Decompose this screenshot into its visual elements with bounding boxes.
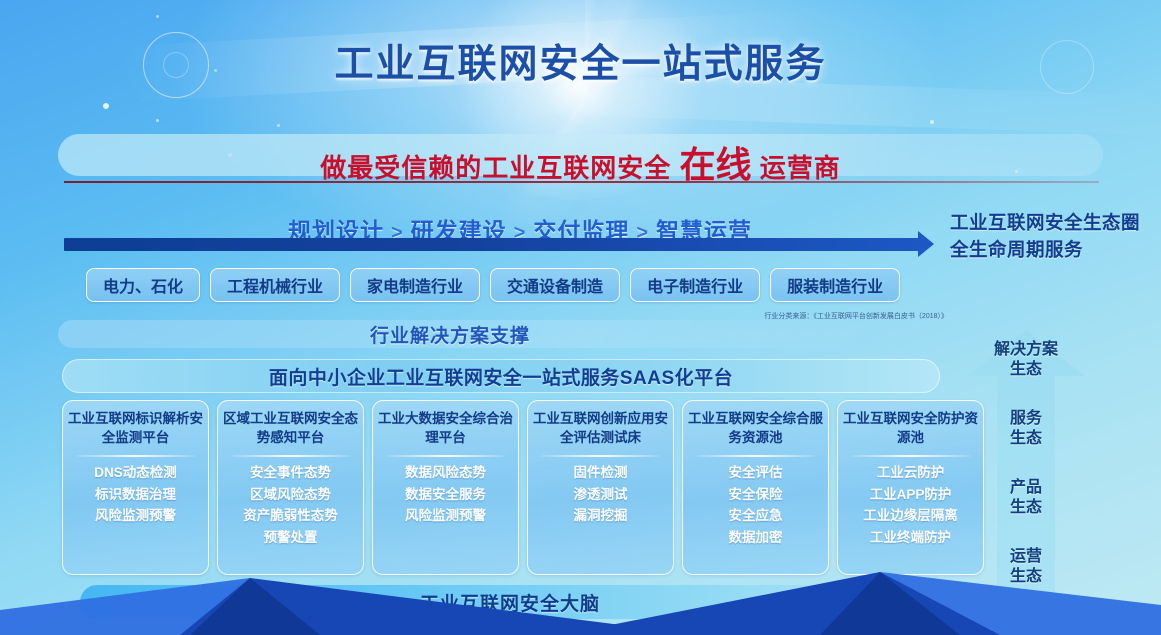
poster-canvas: 工业互联网安全一站式服务 做最受信赖的工业互联网安全 在线 运营商 规划设计>研… <box>0 0 1161 635</box>
capability-card-item[interactable]: 工业终端防护 <box>870 531 951 546</box>
capability-card-title: 工业互联网安全综合服务资源池 <box>688 410 824 447</box>
industry-tag-5[interactable]: 电子制造行业 <box>630 268 760 302</box>
industry-tag-6[interactable]: 服装制造行业 <box>770 268 900 302</box>
capability-card-divider <box>77 455 195 457</box>
capability-card-item[interactable]: 工业云防护 <box>877 466 945 481</box>
industry-tag-3[interactable]: 家电制造行业 <box>350 268 480 302</box>
capability-card-item[interactable]: 预警处置 <box>264 531 318 546</box>
capability-card-2[interactable]: 区域工业互联网安全态势感知平台安全事件态势区域风险态势资产脆弱性态势预警处置 <box>217 400 364 575</box>
capability-card-title: 工业互联网创新应用安全评估测试床 <box>533 410 669 447</box>
capability-card-divider <box>697 455 815 457</box>
page-title: 工业互联网安全一站式服务 <box>0 33 1161 89</box>
capability-card-item[interactable]: 风险监测预警 <box>95 509 176 524</box>
subtitle-underline <box>64 181 1099 183</box>
dot-decoration-6 <box>277 124 280 127</box>
capability-card-3[interactable]: 工业大数据安全综合治理平台数据风险态势数据安全服务风险监测预警 <box>372 400 519 575</box>
capability-card-1[interactable]: 工业互联网标识解析安全监测平台DNS动态检测标识数据治理风险监测预警 <box>62 400 209 575</box>
saas-platform-label: 面向中小企业工业互联网安全一站式服务SAAS化平台 <box>269 363 733 390</box>
capability-card-divider <box>232 455 350 457</box>
subtitle-suffix: 运营商 <box>752 153 841 183</box>
capability-card-item[interactable]: DNS动态检测 <box>94 466 177 481</box>
capability-card-item-list: 安全评估安全保险安全应急数据加密 <box>729 466 783 546</box>
dot-decoration-1 <box>103 103 109 109</box>
capability-card-4[interactable]: 工业互联网创新应用安全评估测试床固件检测渗透测试漏洞挖掘 <box>527 400 674 575</box>
capability-card-title: 工业互联网标识解析安全监测平台 <box>68 410 204 447</box>
capability-card-item[interactable]: 资产脆弱性态势 <box>243 509 338 524</box>
industry-tag-4[interactable]: 交通设备制造 <box>490 268 620 302</box>
industry-tag-1[interactable]: 电力、石化 <box>86 268 200 302</box>
industry-tag-list: 电力、石化工程机械行业家电制造行业交通设备制造电子制造行业服装制造行业 <box>86 268 900 302</box>
capability-card-item[interactable]: 漏洞挖掘 <box>574 509 628 524</box>
bottom-polygon-decoration <box>0 550 1161 635</box>
source-note: 行业分类来源：《工业互联网平台创新发展白皮书（2018）》 <box>700 311 948 321</box>
capability-card-item-list: 安全事件态势区域风险态势资产脆弱性态势预警处置 <box>243 466 338 546</box>
dot-decoration-7 <box>930 120 934 124</box>
capability-card-item[interactable]: 区域风险态势 <box>250 488 331 503</box>
capability-card-item[interactable]: 风险监测预警 <box>405 509 486 524</box>
capability-card-item-list: 数据风险态势数据安全服务风险监测预警 <box>405 466 486 525</box>
capability-card-title: 区域工业互联网安全态势感知平台 <box>223 410 359 447</box>
capability-card-item[interactable]: 固件检测 <box>574 466 628 481</box>
capability-card-item[interactable]: 安全保险 <box>729 488 783 503</box>
capability-card-list: 工业互联网标识解析安全监测平台DNS动态检测标识数据治理风险监测预警区域工业互联… <box>62 400 984 575</box>
capability-card-item[interactable]: 工业APP防护 <box>870 488 952 503</box>
ecosystem-item-1[interactable]: 解决方案生态 <box>960 340 1092 381</box>
saas-platform-bar: 面向中小企业工业互联网安全一站式服务SAAS化平台 <box>62 359 940 393</box>
capability-card-divider <box>387 455 505 457</box>
capability-card-item[interactable]: 安全应急 <box>729 509 783 524</box>
capability-card-item[interactable]: 数据风险态势 <box>405 466 486 481</box>
capability-card-item-list: 工业云防护工业APP防护工业边缘层隔离工业终端防护 <box>863 466 958 546</box>
process-arrow-bar <box>64 238 920 251</box>
capability-card-item[interactable]: 渗透测试 <box>574 488 628 503</box>
ecosystem-item-2[interactable]: 服务生态 <box>960 409 1092 450</box>
capability-card-title: 工业互联网安全防护资源池 <box>843 410 979 447</box>
subtitle-highlight: 在线 <box>679 144 751 185</box>
capability-card-item[interactable]: 安全事件态势 <box>250 466 331 481</box>
industry-tag-2[interactable]: 工程机械行业 <box>210 268 340 302</box>
process-arrow-head-icon <box>918 231 934 257</box>
dot-decoration-4 <box>156 15 159 18</box>
capability-card-item[interactable]: 工业边缘层隔离 <box>863 509 958 524</box>
capability-card-item[interactable]: 标识数据治理 <box>95 488 176 503</box>
capability-card-5[interactable]: 工业互联网安全综合服务资源池安全评估安全保险安全应急数据加密 <box>682 400 829 575</box>
capability-card-divider <box>542 455 660 457</box>
ecosystem-heading: 工业互联网安全生态圈全生命周期服务 <box>950 210 1150 263</box>
solution-support-label: 行业解决方案支撑 <box>0 321 900 348</box>
ecosystem-item-3[interactable]: 产品生态 <box>960 478 1092 519</box>
capability-card-item[interactable]: 安全评估 <box>729 466 783 481</box>
capability-card-title: 工业大数据安全综合治理平台 <box>378 410 514 447</box>
capability-card-item-list: 固件检测渗透测试漏洞挖掘 <box>574 466 628 525</box>
dot-decoration-2 <box>156 119 159 122</box>
capability-card-item-list: DNS动态检测标识数据治理风险监测预警 <box>94 466 177 525</box>
capability-card-item[interactable]: 数据安全服务 <box>405 488 486 503</box>
capability-card-item[interactable]: 数据加密 <box>729 531 783 546</box>
subtitle-prefix: 做最受信赖的工业互联网安全 <box>320 153 679 183</box>
capability-card-divider <box>852 455 970 457</box>
